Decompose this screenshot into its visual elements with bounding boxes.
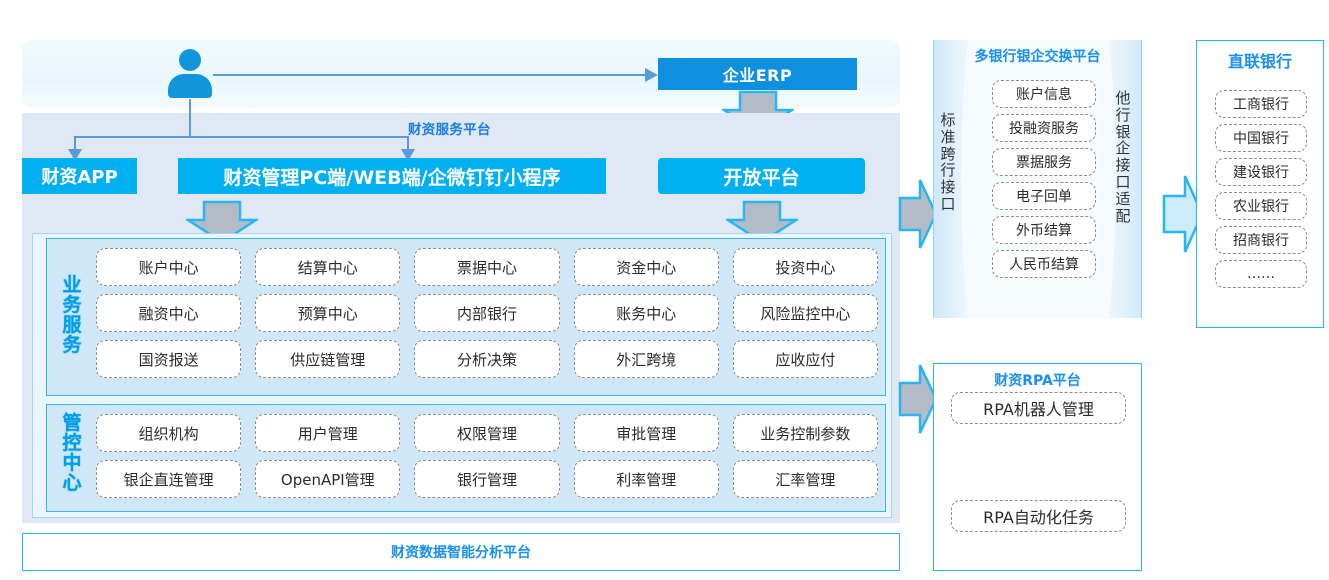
- control-cell[interactable]: 用户管理: [255, 414, 400, 452]
- exchange-item[interactable]: 电子回单: [992, 182, 1096, 210]
- exchange-platform-title: 多银行银企交换平台: [933, 46, 1142, 66]
- rpa-platform-title: 财资RPA平台: [933, 370, 1142, 390]
- rpa-item[interactable]: RPA自动化任务: [951, 500, 1126, 532]
- arrow-to-exchange-platform-icon: [898, 176, 938, 256]
- bank-item[interactable]: 中国银行: [1215, 124, 1307, 152]
- bank-item[interactable]: 农业银行: [1215, 192, 1307, 220]
- exchange-item[interactable]: 人民币结算: [992, 250, 1096, 278]
- user-to-erp-connector: [213, 74, 650, 76]
- bank-item[interactable]: 工商银行: [1215, 90, 1307, 118]
- exchange-other-bank-adapter-label: 他行银企接口适配: [1112, 90, 1134, 224]
- control-cell[interactable]: 银企直连管理: [96, 460, 241, 498]
- channel-treasury-pc-web[interactable]: 财资管理PC端/WEB端/企微钉钉小程序: [178, 158, 606, 194]
- user-to-erp-arrowhead-icon: [645, 68, 658, 82]
- exchange-item[interactable]: 投融资服务: [992, 114, 1096, 142]
- service-cell[interactable]: 国资报送: [96, 340, 241, 378]
- branch-right-stem: [407, 136, 409, 150]
- service-cell[interactable]: 融资中心: [96, 294, 241, 332]
- bank-item[interactable]: 招商银行: [1215, 226, 1307, 254]
- exchange-platform-items: 账户信息 投融资服务 票据服务 电子回单 外币结算 人民币结算: [992, 80, 1096, 278]
- direct-banks-items: 工商银行 中国银行 建设银行 农业银行 招商银行 ……: [1215, 90, 1307, 288]
- person-body-shape: [168, 74, 212, 98]
- service-cell[interactable]: 风险监控中心: [733, 294, 878, 332]
- exchange-item[interactable]: 票据服务: [992, 148, 1096, 176]
- direct-banks-title: 直联银行: [1196, 48, 1324, 72]
- service-cell[interactable]: 外汇跨境: [574, 340, 719, 378]
- business-services-label: 业务服务: [59, 275, 85, 356]
- data-analysis-platform-bar[interactable]: 财资数据智能分析平台: [22, 533, 900, 571]
- control-cell[interactable]: 权限管理: [414, 414, 559, 452]
- service-cell[interactable]: 投资中心: [733, 248, 878, 286]
- service-cell[interactable]: 应收应付: [733, 340, 878, 378]
- branch-left-stem: [74, 136, 76, 150]
- control-cell[interactable]: 利率管理: [574, 460, 719, 498]
- bank-item[interactable]: 建设银行: [1215, 158, 1307, 186]
- control-cell[interactable]: 组织机构: [96, 414, 241, 452]
- enterprise-erp-box[interactable]: 企业ERP: [658, 58, 857, 90]
- service-cell[interactable]: 结算中心: [255, 248, 400, 286]
- rpa-item[interactable]: RPA机器人管理: [951, 392, 1126, 424]
- control-cell[interactable]: 银行管理: [414, 460, 559, 498]
- control-cell[interactable]: OpenAPI管理: [255, 460, 400, 498]
- business-services-grid: 账户中心 结算中心 票据中心 资金中心 投资中心 融资中心 预算中心 内部银行 …: [96, 248, 878, 378]
- person-head-shape: [179, 49, 201, 71]
- channel-treasury-app[interactable]: 财资APP: [22, 158, 137, 194]
- arrow-to-rpa-platform-icon: [898, 361, 938, 441]
- exchange-standard-interface-label: 标准跨行接口: [937, 112, 959, 213]
- service-cell[interactable]: 预算中心: [255, 294, 400, 332]
- exchange-item[interactable]: 外币结算: [992, 216, 1096, 244]
- control-cell[interactable]: 汇率管理: [733, 460, 878, 498]
- person-icon: [168, 47, 212, 99]
- service-cell[interactable]: 内部银行: [414, 294, 559, 332]
- control-cell[interactable]: 业务控制参数: [733, 414, 878, 452]
- bank-item-more[interactable]: ……: [1215, 260, 1307, 288]
- control-center-label: 管控中心: [59, 413, 85, 494]
- architecture-diagram: 企业ERP 财资服务平台 财资APP 财资管理PC端/WEB端/企微钉钉小程序 …: [0, 0, 1329, 580]
- service-cell[interactable]: 票据中心: [414, 248, 559, 286]
- person-down-connector: [189, 99, 191, 137]
- channel-open-platform[interactable]: 开放平台: [658, 158, 865, 194]
- service-cell[interactable]: 供应链管理: [255, 340, 400, 378]
- service-cell[interactable]: 账务中心: [574, 294, 719, 332]
- control-center-grid: 组织机构 用户管理 权限管理 审批管理 业务控制参数 银企直连管理 OpenAP…: [96, 414, 878, 498]
- control-cell[interactable]: 审批管理: [574, 414, 719, 452]
- platform-title: 财资服务平台: [408, 118, 491, 138]
- branch-connector: [74, 136, 409, 138]
- exchange-item[interactable]: 账户信息: [992, 80, 1096, 108]
- service-cell[interactable]: 资金中心: [574, 248, 719, 286]
- service-cell[interactable]: 账户中心: [96, 248, 241, 286]
- service-cell[interactable]: 分析决策: [414, 340, 559, 378]
